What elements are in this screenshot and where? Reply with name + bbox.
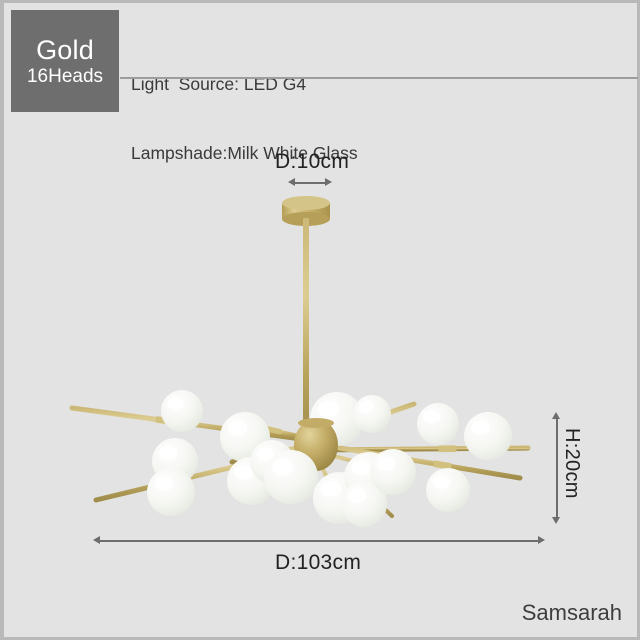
- canopy-diameter-label: D:10cm: [275, 150, 349, 174]
- glass-globe-0: [161, 390, 203, 432]
- glass-globe-15: [464, 412, 512, 460]
- brand-watermark: Samsarah: [522, 600, 622, 626]
- glass-globe-14: [426, 468, 470, 512]
- glass-globe-13: [417, 403, 459, 445]
- overall-diameter-arrow: [93, 536, 545, 545]
- overall-height-label: H:20cm: [560, 428, 583, 499]
- glass-globe-11: [370, 449, 416, 495]
- overall-diameter-label: D:103cm: [275, 551, 361, 575]
- canopy-diameter-arrow: [288, 178, 332, 187]
- glass-globe-12: [353, 395, 391, 433]
- arm-collar-4: [438, 445, 456, 452]
- glass-globe-2: [147, 468, 195, 516]
- drop-rod: [303, 218, 309, 440]
- glass-globe-6: [264, 450, 318, 504]
- product-spec-image: Gold 16Heads Light Source: LED G4 Lampsh…: [0, 0, 640, 640]
- overall-height-arrow: [552, 412, 561, 524]
